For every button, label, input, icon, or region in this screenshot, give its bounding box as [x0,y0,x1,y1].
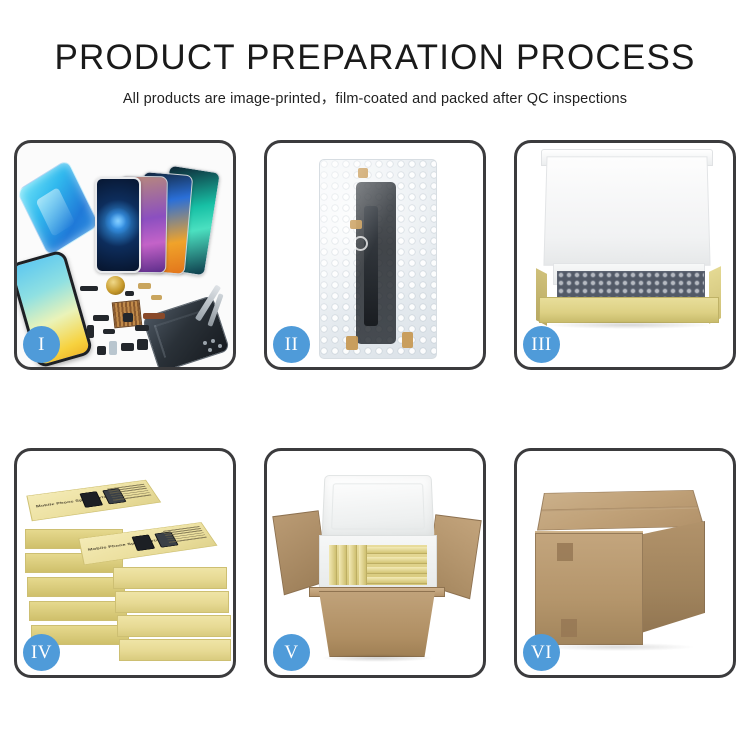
drop-shadow [543,643,693,651]
tape-piece [402,332,413,348]
process-steps-grid: I II III [14,140,736,680]
spare-part [143,313,165,319]
box-lid [543,156,710,265]
step-badge-1: I [23,326,60,363]
spare-part [138,283,151,289]
phone-fan-group [83,153,233,273]
spare-part [135,325,149,331]
step-panel-1: I [14,140,236,370]
phone-print-image [132,534,156,551]
box-stack: Mobile Phone Spare Parts Mobile Phone Sp… [25,471,231,667]
step-badge-4: IV [23,634,60,671]
phone-dark-blue [95,177,141,273]
box-edge [29,601,127,621]
spare-part [121,343,134,351]
spare-part [97,346,106,355]
tape-piece [358,168,368,178]
step-panel-3: III [514,140,736,370]
step-badge-6: VI [523,634,560,671]
bubble-wrapped-parts-row [557,271,705,299]
spare-part [103,329,115,334]
connector-ring [353,236,368,251]
printed-box-lid: Mobile Phone Spare Parts [26,480,161,521]
spec-text-lines [107,484,155,507]
tape-patch [561,619,577,637]
carton-side-panel [641,521,705,633]
spare-part [125,291,134,296]
tape-piece [350,220,362,229]
step-panel-5: V [264,448,486,678]
spare-part [109,341,117,355]
page-title: PRODUCT PREPARATION PROCESS [0,38,750,78]
spare-part [80,286,98,291]
flex-cable [364,206,378,326]
carton-front-panel [311,591,443,657]
carton-top-seam [541,506,697,512]
box-edge [27,577,125,597]
spare-part [93,315,109,321]
box-front-face [115,591,229,613]
screws-group [203,339,227,353]
spare-part [87,325,94,338]
step-panel-6: VI [514,448,736,678]
step-panel-4: Mobile Phone Spare Parts Mobile Phone Sp… [14,448,236,678]
carton-front-panel [535,533,643,645]
step-badge-3: III [523,326,560,363]
drop-shadow [545,321,713,329]
tape-piece [346,336,358,350]
spec-text-lines [163,526,211,550]
spare-part [123,313,133,322]
tape-patch [557,543,573,561]
foam-lid [321,475,434,538]
spare-part [151,295,162,300]
box-front-face [119,639,231,661]
page-header: PRODUCT PREPARATION PROCESS All products… [0,0,750,108]
carton-top-panel [537,490,704,530]
phone-print-image [79,491,103,508]
bubble-wrap-pouch [319,159,437,359]
packed-yellow-boxes [329,545,427,585]
step-badge-2: II [273,326,310,363]
box-front-face [117,615,231,637]
box-front-panel [539,297,719,323]
spare-part [137,339,148,350]
step-panel-2: II [264,140,486,370]
gold-coil-part-icon [106,276,125,295]
box-front-face [113,567,227,589]
step-badge-5: V [273,634,310,671]
drop-shadow [321,654,433,662]
packed-phone-part [356,182,396,344]
page-subtitle: All products are image-printed，film-coat… [0,87,750,108]
